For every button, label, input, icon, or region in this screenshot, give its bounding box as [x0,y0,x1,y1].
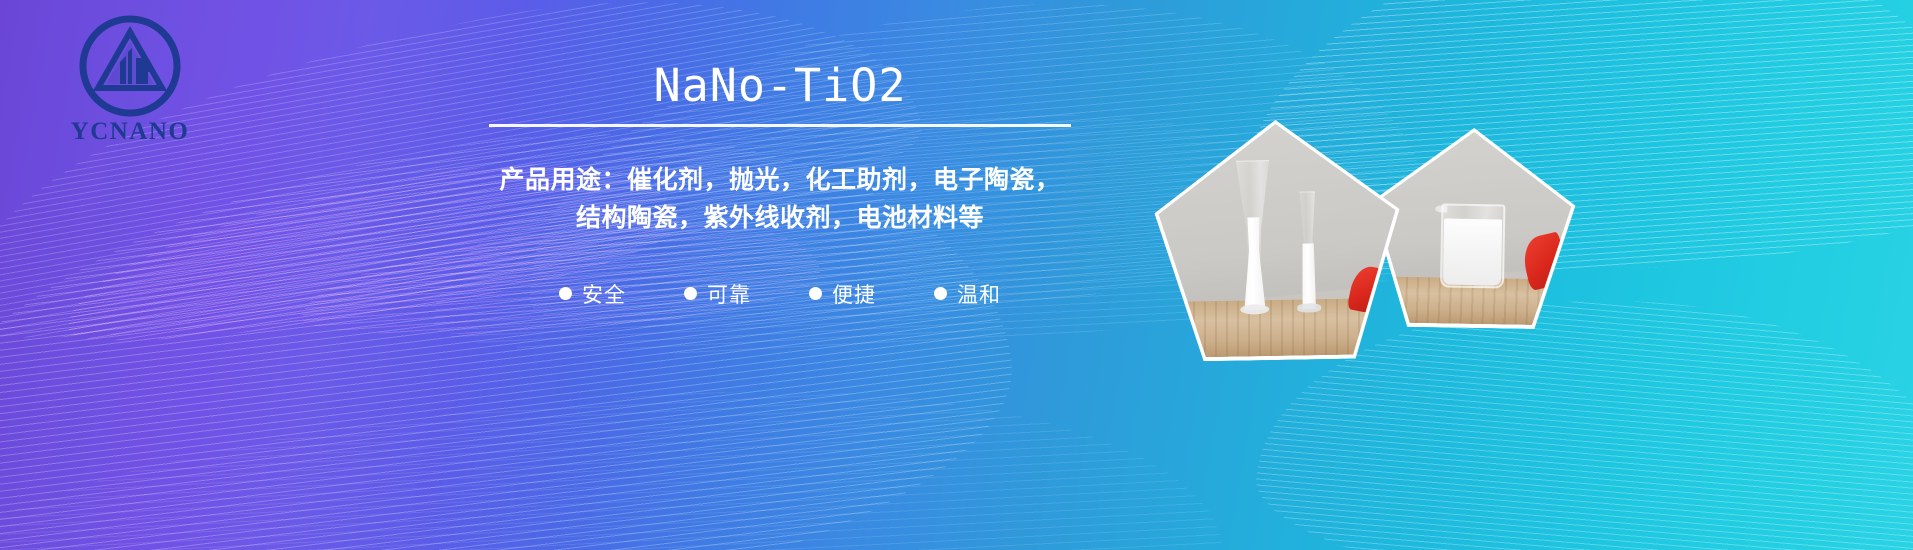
bullet-dot-icon [684,287,697,300]
logo-mountain-circle-icon [76,12,184,120]
feature-label: 安全 [582,279,626,309]
bullet-dot-icon [934,287,947,300]
feature-label: 便捷 [832,279,876,309]
brand-logo: YCNANO [35,12,225,157]
vase-base [1240,304,1269,315]
vase-white-powder [1234,217,1274,311]
feature-item-mild: 温和 [934,279,1001,309]
beaker-spout [1435,205,1447,212]
title-divider [489,124,1071,127]
feature-item-safe: 安全 [559,279,626,309]
page-title: NaNo-TiO2 [470,60,1090,112]
pentagon-photo-beaker-image [1372,130,1572,325]
pentagon-photo-vases-image [1157,122,1398,358]
vase-white-powder [1294,243,1323,310]
bullet-dot-icon [559,287,572,300]
banner-content: NaNo-TiO2 产品用途：催化剂，抛光，化工助剂，电子陶瓷， 结构陶瓷，紫外… [470,60,1090,309]
feature-item-convenient: 便捷 [809,279,876,309]
description-line-2: 结构陶瓷，紫外线收剂，电池材料等 [470,199,1090,237]
feature-list: 安全 可靠 便捷 温和 [470,279,1090,309]
pentagon-photo-beaker [1368,126,1576,330]
feature-label: 温和 [957,279,1001,309]
white-vase-large [1233,160,1274,311]
pentagon-photo-vases [1153,118,1402,362]
feature-item-reliable: 可靠 [684,279,751,309]
white-vase-small [1293,191,1323,309]
feature-label: 可靠 [707,279,751,309]
wave-texture-bottom [0,366,1226,550]
vase-base [1297,303,1322,312]
product-banner: YCNANO NaNo-TiO2 产品用途：催化剂，抛光，化工助剂，电子陶瓷， … [0,0,1913,550]
beaker-liquid [1443,219,1502,286]
description-line-1: 产品用途：催化剂，抛光，化工助剂，电子陶瓷， [470,161,1090,199]
bullet-dot-icon [809,287,822,300]
logo-wordmark: YCNANO [35,118,225,146]
beaker-with-white-liquid [1440,203,1505,288]
